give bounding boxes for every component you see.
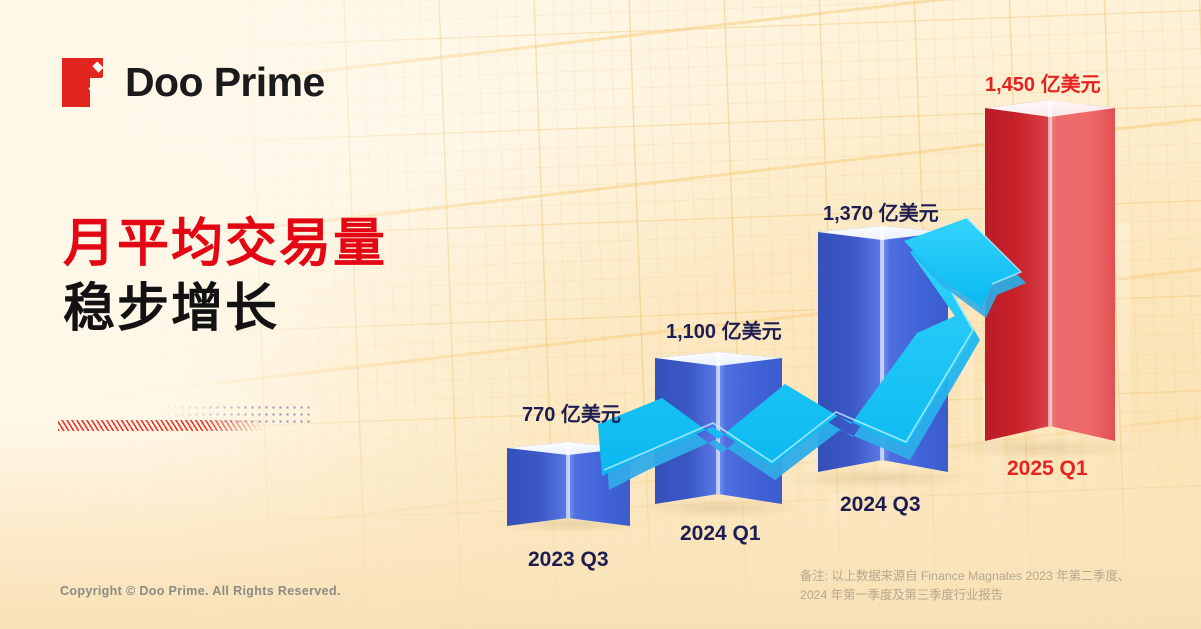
headline-line-1: 月平均交易量 <box>63 215 387 274</box>
brand-logo[interactable]: Doo Prime <box>62 58 325 107</box>
source-note: 备注: 以上数据来源自 Finance Magnates 2023 年第二季度、… <box>800 567 1192 605</box>
brand-name: Doo Prime <box>125 59 325 106</box>
copyright-text: Copyright © Doo Prime. All Rights Reserv… <box>60 584 341 598</box>
decorative-accent <box>58 404 310 430</box>
headline-line-2: 稳步增长 <box>63 280 387 339</box>
value-label-2025-q1: 1,450 亿美元 <box>985 68 1101 97</box>
doo-prime-mark-icon <box>62 58 110 107</box>
value-label-2024-q1: 1,100 亿美元 <box>666 315 782 344</box>
headline: 月平均交易量 稳步增长 <box>63 215 387 340</box>
bar-chart: 770 亿美元 1,100 亿美元 1,370 亿美元 1,450 亿美元 20… <box>470 0 1201 629</box>
decorative-red-stripes <box>58 420 266 431</box>
value-label-2024-q3: 1,370 亿美元 <box>823 197 939 226</box>
category-label-2023-q3: 2023 Q3 <box>528 548 609 572</box>
source-note-line-2: 2024 年第一季度及第三季度行业报告 <box>800 586 1192 605</box>
category-label-2024-q1: 2024 Q1 <box>680 522 761 546</box>
category-label-2024-q3: 2024 Q3 <box>840 493 921 517</box>
source-note-line-1: 备注: 以上数据来源自 Finance Magnates 2023 年第二季度、 <box>800 567 1192 586</box>
category-label-2025-q1: 2025 Q1 <box>1007 457 1088 481</box>
value-label-2023-q3: 770 亿美元 <box>522 398 621 427</box>
